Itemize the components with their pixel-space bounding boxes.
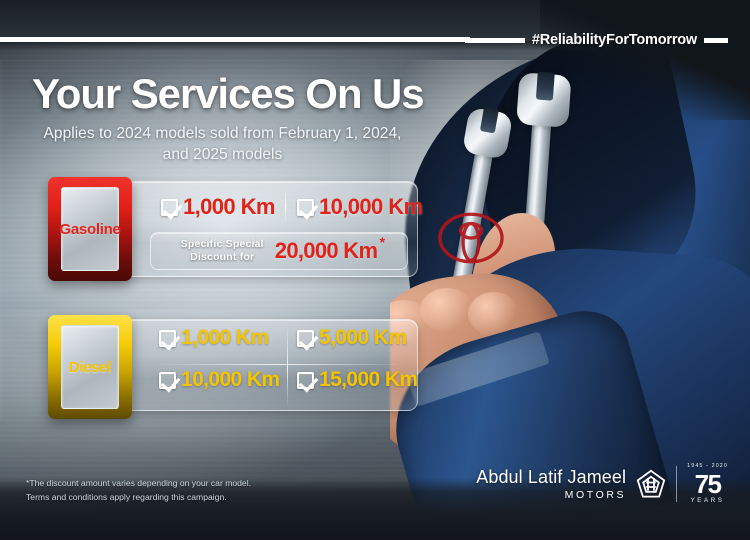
diesel-tab[interactable]: Diesel [48,315,132,419]
gasoline-item-label: 10,000 Km [319,194,422,220]
gasoline-tab[interactable]: Gasoline [48,177,132,281]
hashtag-text: #ReliabilityForTomorrow [532,32,697,48]
gasoline-vertical-divider [285,188,286,224]
brand-subname: MOTORS [476,489,626,501]
checkbox-checked-icon[interactable] [297,330,314,347]
discount-value: 20,000 Km* [275,238,378,264]
diesel-item-4[interactable]: 15,000 Km [297,368,418,392]
hashtag-rule-short [704,38,728,43]
top-right-corner-shade [540,0,750,120]
checkbox-checked-icon[interactable] [297,372,314,389]
disclaimer-line-2: Terms and conditions apply regarding thi… [26,491,251,504]
anniversary-number: 75 [687,471,728,497]
page-subtitle: Applies to 2024 models sold from Februar… [30,124,415,165]
hand-highlight [420,288,474,332]
brand-name: Abdul Latif Jameel [476,467,626,488]
gasoline-item-2[interactable]: 10,000 Km [297,194,422,220]
diesel-tab-label: Diesel [69,359,111,376]
diesel-horizontal-divider [155,364,405,365]
gasoline-tab-label: Gasoline [60,221,121,238]
hashtag-rule-long [465,38,525,43]
checkbox-checked-icon[interactable] [297,199,314,216]
diesel-vertical-divider [287,324,288,408]
hashtag-group: #ReliabilityForTomorrow [465,32,728,48]
jameel-pentagon-logo-icon [636,469,666,499]
disclaimer-text: *The discount amount varies depending on… [26,477,251,504]
anniversary-word: YEARS [687,498,728,504]
checkbox-checked-icon[interactable] [159,372,176,389]
toyota-logo-icon [438,212,504,264]
brand-names: Abdul Latif Jameel MOTORS [476,467,626,501]
diesel-item-label: 15,000 Km [319,368,418,392]
diesel-item-label: 5,000 Km [319,326,406,350]
anniversary-badge: 1945 - 2020 75 YEARS [687,464,728,504]
page-title: Your Services On Us [32,70,424,118]
subtitle-line-1: Applies to 2024 models sold from Februar… [30,124,415,145]
discount-value-text: 20,000 Km [275,238,378,263]
banner-rule-left [0,37,470,42]
subtitle-line-2: and 2025 models [30,145,415,166]
gasoline-item-1[interactable]: 1,000 Km [161,194,275,220]
gasoline-item-label: 1,000 Km [183,194,275,220]
poster-canvas: #ReliabilityForTomorrow Your Services On… [0,0,750,540]
brand-divider [676,466,677,502]
discount-label-line-1: Specific Special [181,238,264,251]
diesel-item-label: 10,000 Km [181,368,280,392]
brand-lockup: Abdul Latif Jameel MOTORS 1945 - 2020 75… [476,464,728,504]
disclaimer-line-1: *The discount amount varies depending on… [26,477,251,490]
gasoline-discount-box[interactable]: Specific Special Discount for 20,000 Km* [150,232,408,270]
diesel-item-3[interactable]: 10,000 Km [159,368,280,392]
diesel-item-label: 1,000 Km [181,326,268,350]
diesel-panel: 1,000 Km 5,000 Km 10,000 Km 15,000 Km [88,319,418,411]
discount-label: Specific Special Discount for [181,238,264,264]
checkbox-checked-icon[interactable] [161,199,178,216]
discount-asterisk: * [380,234,385,250]
checkbox-checked-icon[interactable] [159,330,176,347]
diesel-item-1[interactable]: 1,000 Km [159,326,268,350]
diesel-item-2[interactable]: 5,000 Km [297,326,406,350]
diesel-rows: 1,000 Km 5,000 Km 10,000 Km 15,000 Km [151,320,408,410]
discount-label-line-2: Discount for [181,251,264,264]
